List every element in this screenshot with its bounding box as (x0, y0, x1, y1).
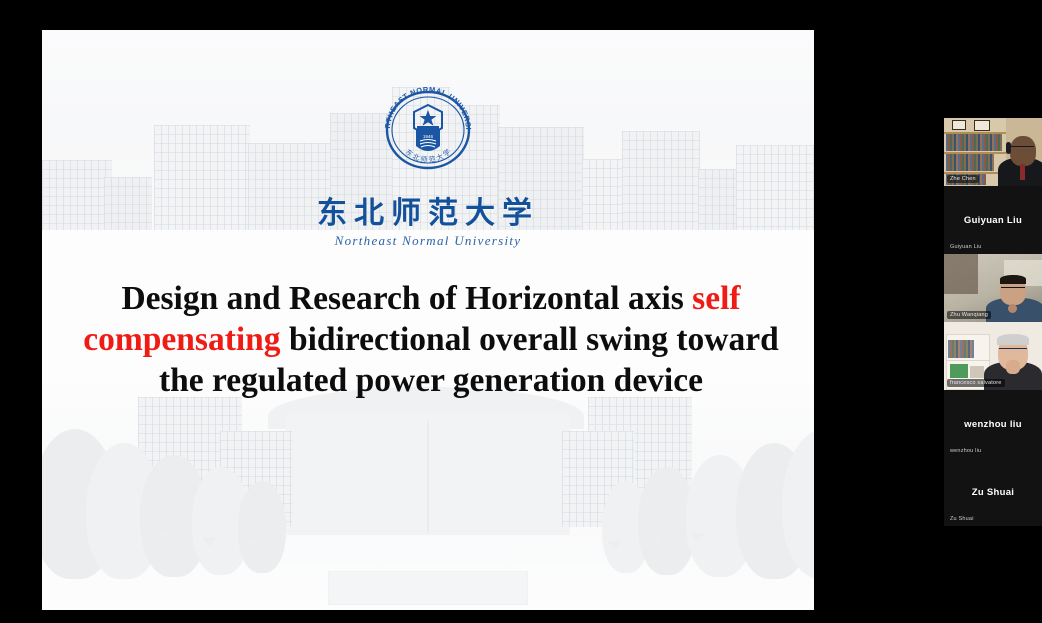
participant-tile[interactable]: Guiyuan Liu Guiyuan Liu (944, 186, 1042, 254)
title-line2-highlight: compensating (83, 321, 280, 358)
participant-name-label: Zhe Chen (947, 175, 979, 183)
title-line1-pre: Design and Research of Horizontal axis (121, 280, 692, 317)
university-name-en: Northeast Normal University (42, 233, 814, 249)
participant-tile[interactable]: wenzhou liu wenzhou liu (944, 390, 1042, 458)
title-line1-highlight: self (692, 280, 740, 317)
campus-photo-bottom (42, 385, 814, 610)
participant-video-strip[interactable]: Zhe Chen Guiyuan Liu Guiyuan Liu Zhu Wan… (944, 118, 1042, 526)
participant-display-name: wenzhou liu (964, 419, 1022, 430)
participant-name-label: francesco salvatore (947, 379, 1005, 387)
zoom-meeting-window: NORTHEAST NORMAL UNIVERSITY 东 北 师 范 大 学 … (0, 0, 1042, 623)
university-logo-block: NORTHEAST NORMAL UNIVERSITY 东 北 师 范 大 学 … (42, 78, 814, 249)
participant-name-label: Guiyuan Liu (947, 243, 985, 251)
title-line3: the regulated power generation device (159, 362, 703, 399)
participant-tile[interactable]: Zhe Chen (944, 118, 1042, 186)
participant-tile[interactable]: Zu Shuai Zu Shuai (944, 458, 1042, 526)
title-line2-post: bidirectional overall swing toward (281, 321, 779, 358)
participant-name-label: Zu Shuai (947, 515, 977, 523)
participant-tile[interactable]: francesco salvatore (944, 322, 1042, 390)
svg-text:1946: 1946 (423, 134, 434, 139)
nnu-seal-icon: NORTHEAST NORMAL UNIVERSITY 东 北 师 范 大 学 … (376, 78, 480, 182)
participant-display-name: Zu Shuai (972, 487, 1015, 498)
participant-name-label: Zhu Wanqiang (947, 311, 991, 319)
participant-name-label: wenzhou liu (947, 447, 984, 455)
shared-slide[interactable]: NORTHEAST NORMAL UNIVERSITY 东 北 师 范 大 学 … (42, 30, 814, 610)
participant-display-name: Guiyuan Liu (964, 215, 1022, 226)
slide-title: Design and Research of Horizontal axis s… (68, 278, 794, 401)
university-name-cn: 东北师范大学 (42, 188, 814, 232)
participant-tile[interactable]: Zhu Wanqiang (944, 254, 1042, 322)
